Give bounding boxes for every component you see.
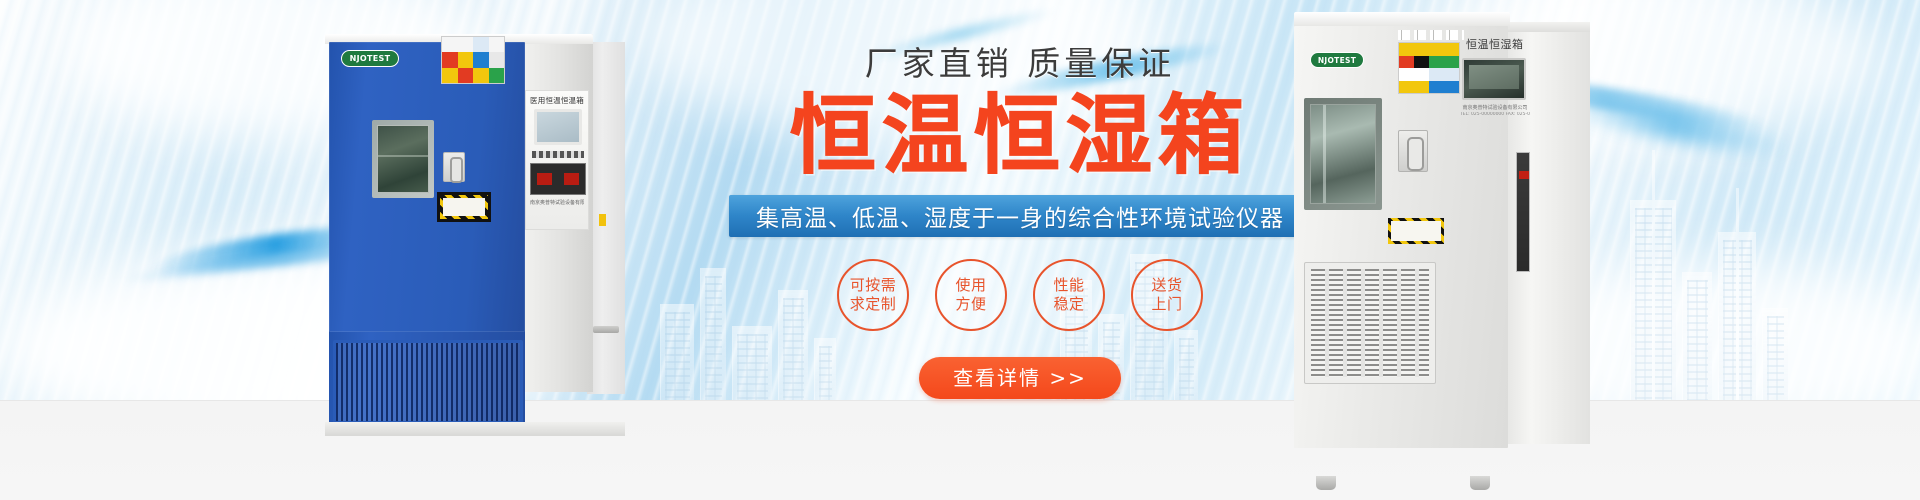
control-panel-subtext: 南京奥普特试验设备有限公司 [530,199,584,206]
control-panel-screen[interactable] [1462,58,1526,100]
ground-surface [0,400,1920,500]
badge-line-1: 性能 [1053,276,1084,295]
product-image-left-chamber: NJOTEST 医用恒温恒温箱 南京奥普特试验设备有限公司 [325,34,625,406]
safety-sticker-grid [441,36,505,84]
side-control-strip [1516,152,1530,272]
banner-copy-block: 厂家直销 质量保证 恒温恒湿箱 集高温、低温、湿度于一身的综合性环境试验仪器 可… [700,46,1340,399]
chamber-leveling-foot [1316,476,1336,490]
chamber-door-handle [443,152,465,182]
feature-badge-delivery[interactable]: 送货 上门 [1131,259,1203,331]
control-panel-screen[interactable] [534,109,582,145]
badge-line-1: 使用 [955,276,986,295]
side-access-handle [593,326,619,333]
badge-line-2: 稳定 [1053,295,1084,314]
hazard-warning-label [437,192,491,222]
banner-tagline: 厂家直销 质量保证 [700,46,1340,82]
product-image-right-chamber: NJOTEST 恒温恒湿箱 南京奥普特试验设备有限公司 TEL: 025-000… [1270,12,1590,490]
chamber-ventilation-grille [1304,262,1436,384]
banner-subtitle-text: 集高温、低温、湿度于一身的综合性环境试验仪器 [756,199,1284,233]
readout-digit [537,173,552,185]
njotest-logo-icon: NJOTEST [341,50,399,67]
banner-headline: 恒温恒湿箱 [700,90,1340,183]
control-panel-keypad[interactable] [532,151,584,158]
chamber-door-handle [1398,130,1428,172]
control-panel-title: 医用恒温恒温箱 [530,95,584,106]
chamber-viewing-window [1304,98,1382,210]
chamber-top-edge-right [1506,22,1590,32]
yellow-indicator-tab [599,214,606,226]
hazard-warning-label [1388,218,1444,244]
feature-badge-list: 可按需 求定制 使用 方便 性能 稳定 送货 上门 [700,259,1340,331]
njotest-logo-icon: NJOTEST [1310,52,1364,68]
badge-line-1: 可按需 [850,276,897,295]
chamber-model-label: 恒温恒湿箱 [1466,36,1530,50]
badge-line-2: 方便 [955,295,986,314]
promo-banner: NJOTEST 医用恒温恒温箱 南京奥普特试验设备有限公司 厂家直销 质量保证 … [0,0,1920,500]
feature-badge-stable[interactable]: 性能 稳定 [1033,259,1105,331]
feature-badge-custom[interactable]: 可按需 求定制 [837,259,909,331]
readout-digit [564,173,579,185]
control-panel-readout [530,163,586,195]
chamber-ventilation-grille [333,340,523,424]
badge-line-1: 送货 [1151,276,1182,295]
badge-line-2: 上门 [1151,295,1182,314]
badge-line-2: 求定制 [850,295,897,314]
cta-row: 查看详情 >> [700,357,1340,399]
chamber-top-vent-slots [1398,30,1464,40]
chamber-viewing-window [372,120,434,198]
control-panel[interactable]: 医用恒温恒温箱 南京奥普特试验设备有限公司 [525,90,589,230]
manufacturer-line-1: 南京奥普特试验设备有限公司 [1460,104,1530,111]
view-details-button[interactable]: 查看详情 >> [919,357,1121,399]
feature-badge-easy-use[interactable]: 使用 方便 [935,259,1007,331]
banner-subtitle-bar: 集高温、低温、湿度于一身的综合性环境试验仪器 [729,195,1312,237]
manufacturer-line-2: TEL: 025-00000000 FAX: 025-00000000 [1460,112,1530,117]
safety-sticker-grid [1398,42,1460,94]
chamber-leveling-foot [1470,476,1490,490]
chamber-base-plinth [325,422,625,436]
